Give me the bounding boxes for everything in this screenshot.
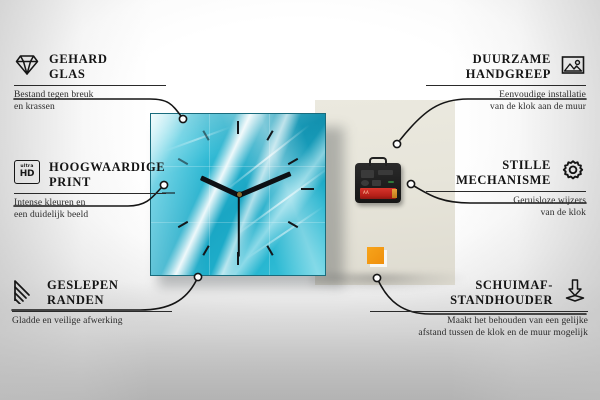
- title-underline: [14, 193, 166, 194]
- feature-description: Intense kleuren en een duidelijk beeld: [14, 198, 166, 221]
- feature-hoogwaardige-print: ultra HD HOOGWAARDIGE PRINT Intense kleu…: [14, 160, 166, 221]
- title-underline: [12, 311, 172, 312]
- quartz-movement: AA: [355, 163, 401, 203]
- glass-wall-clock: [150, 113, 326, 276]
- hour-marker: [237, 121, 239, 134]
- gear-icon: [560, 158, 586, 184]
- feature-gehard-glas: GEHARD GLAS Bestand tegen breuk en krass…: [14, 52, 166, 113]
- feature-description: Gladde en veilige afwerking: [12, 316, 172, 328]
- title-underline: [370, 311, 588, 312]
- second-hand: [238, 195, 240, 257]
- feature-title: HOOGWAARDIGE PRINT: [49, 160, 165, 189]
- hands-hub: [237, 192, 242, 197]
- battery-label: AA: [363, 190, 369, 195]
- foam-spacer-pad: [367, 247, 384, 264]
- feature-schuimafstandhouder: SCHUIMAF- STANDHOUDER Maakt het behouden…: [370, 278, 588, 339]
- feature-title: GESLEPEN RANDEN: [47, 278, 119, 307]
- ultra-hd-big-text: HD: [20, 170, 35, 179]
- feature-title: SCHUIMAF- STANDHOUDER: [450, 278, 553, 307]
- feature-stille-mechanisme: STILLE MECHANISME Geruisloze wijzers van…: [426, 158, 586, 219]
- feature-title: DUURZAME HANDGREEP: [466, 52, 551, 81]
- feature-description: Maakt het behouden van een gelijke afsta…: [370, 316, 588, 339]
- feature-duurzame-handgreep: DUURZAME HANDGREEP Eenvoudige installati…: [426, 52, 586, 113]
- feature-description: Bestand tegen breuk en krassen: [14, 90, 166, 113]
- hanger-loop: [369, 157, 387, 166]
- feature-title: STILLE MECHANISME: [456, 158, 551, 187]
- feature-description: Eenvoudige installatie van de klok aan d…: [426, 90, 586, 113]
- title-underline: [426, 85, 586, 86]
- ultra-hd-icon: ultra HD: [14, 160, 40, 186]
- title-underline: [426, 191, 586, 192]
- spacer-arrow-icon: [562, 278, 588, 304]
- feature-title: GEHARD GLAS: [49, 52, 107, 81]
- feature-geslepen-randen: GESLEPEN RANDEN Gladde en veilige afwerk…: [12, 278, 172, 328]
- product-scene: AA: [140, 95, 460, 295]
- battery: AA: [360, 188, 396, 199]
- hour-marker: [301, 188, 314, 190]
- feature-description: Geruisloze wijzers van de klok: [426, 196, 586, 219]
- title-underline: [14, 85, 166, 86]
- beveled-edges-icon: [12, 278, 38, 304]
- picture-frame-icon: [560, 52, 586, 78]
- infographic-canvas: AA: [0, 0, 600, 400]
- diamond-icon: [14, 52, 40, 78]
